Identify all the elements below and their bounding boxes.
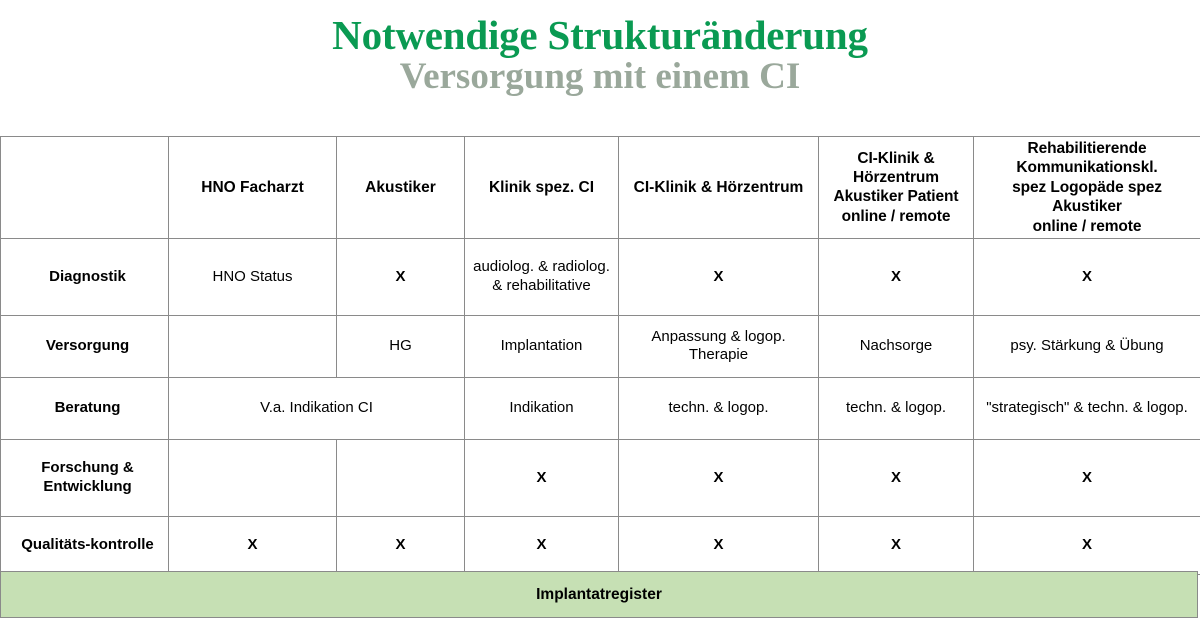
matrix-cell: Implantation [465,315,619,377]
row-label-line: Beratung [55,399,121,418]
row-label-line: Entwicklung [43,478,131,497]
column-header-line: HNO Facharzt [173,178,332,197]
structure-matrix-table: HNO FacharztAkustikerKlinik spez. CICI-K… [0,136,1200,575]
table-row: Qualitäts-kontrolleXXXXXX [1,516,1200,574]
row-label-3: Beratung [1,377,169,439]
matrix-mark-cell: X [619,516,819,574]
table-header-row: HNO FacharztAkustikerKlinik spez. CICI-K… [1,137,1200,239]
column-header-line: online / remote [823,207,969,226]
matrix-cell: "strategisch" & techn. & logop. [974,377,1200,439]
matrix-cell: techn. & logop. [819,377,974,439]
title-block: Notwendige Strukturänderung Versorgung m… [0,0,1200,97]
column-header-line: online / remote [978,217,1196,236]
implantatregister-label: Implantatregister [536,586,662,604]
matrix-cell: HG [337,315,465,377]
column-header-line: Akustiker Patient [823,187,969,206]
column-header-line: Akustiker [341,178,460,197]
row-label-4: Forschung &Entwicklung [1,439,169,516]
matrix-cell: Nachsorge [819,315,974,377]
table-row: BeratungV.a. Indikation CIIndikationtech… [1,377,1200,439]
table-row: DiagnostikHNO StatusXaudiolog. & radiolo… [1,238,1200,315]
matrix-mark-cell: X [619,238,819,315]
matrix-mark-cell: X [337,516,465,574]
implantatregister-bar: Implantatregister [0,571,1198,618]
matrix-cell: psy. Stärkung & Übung [974,315,1200,377]
row-label-1: Diagnostik [1,238,169,315]
column-header-1: HNO Facharzt [169,137,337,239]
page-title: Notwendige Strukturänderung [0,14,1200,57]
table-row: Forschung &EntwicklungXXXX [1,439,1200,516]
row-label-2: Versorgung [1,315,169,377]
column-header-line: CI-Klinik & Hörzentrum [823,149,969,188]
matrix-cell: techn. & logop. [619,377,819,439]
matrix-mark-cell: X [819,516,974,574]
column-header-4: CI-Klinik & Hörzentrum [619,137,819,239]
matrix-mark-cell: X [465,516,619,574]
matrix-cell: Anpassung & logop. Therapie [619,315,819,377]
matrix-cell: audiolog. & radiolog. & rehabilitative [465,238,619,315]
matrix-cell [337,439,465,516]
matrix-mark-cell: X [974,439,1200,516]
matrix-mark-cell: X [169,516,337,574]
matrix-mark-cell: X [819,238,974,315]
column-header-line: Klinik spez. CI [469,178,614,197]
matrix-cell: Indikation [465,377,619,439]
row-label-line: Forschung & [41,459,134,478]
matrix-mark-cell: X [619,439,819,516]
column-header-line: CI-Klinik & Hörzentrum [623,178,814,197]
column-header-3: Klinik spez. CI [465,137,619,239]
column-header-line: spez Logopäde spez Akustiker [978,178,1196,217]
column-header-line: Rehabilitierende Kommunikationskl. [978,139,1196,178]
matrix-cell [169,439,337,516]
table-corner-cell [1,137,169,239]
matrix-table-container: HNO FacharztAkustikerKlinik spez. CICI-K… [0,136,1200,575]
matrix-mark-cell: X [465,439,619,516]
matrix-mark-cell: X [974,516,1200,574]
row-label-line: Versorgung [46,337,129,356]
column-header-6: Rehabilitierende Kommunikationskl.spez L… [974,137,1200,239]
matrix-cell: HNO Status [169,238,337,315]
row-label-line: Qualitäts-kontrolle [21,536,154,555]
matrix-cell [169,315,337,377]
matrix-mark-cell: X [337,238,465,315]
table-row: VersorgungHGImplantationAnpassung & logo… [1,315,1200,377]
matrix-mark-cell: X [974,238,1200,315]
column-header-5: CI-Klinik & HörzentrumAkustiker Patiento… [819,137,974,239]
matrix-mark-cell: X [819,439,974,516]
row-label-5: Qualitäts-kontrolle [1,516,169,574]
matrix-cell: V.a. Indikation CI [169,377,465,439]
column-header-2: Akustiker [337,137,465,239]
row-label-line: Diagnostik [49,268,126,287]
page-subtitle: Versorgung mit einem CI [0,58,1200,97]
